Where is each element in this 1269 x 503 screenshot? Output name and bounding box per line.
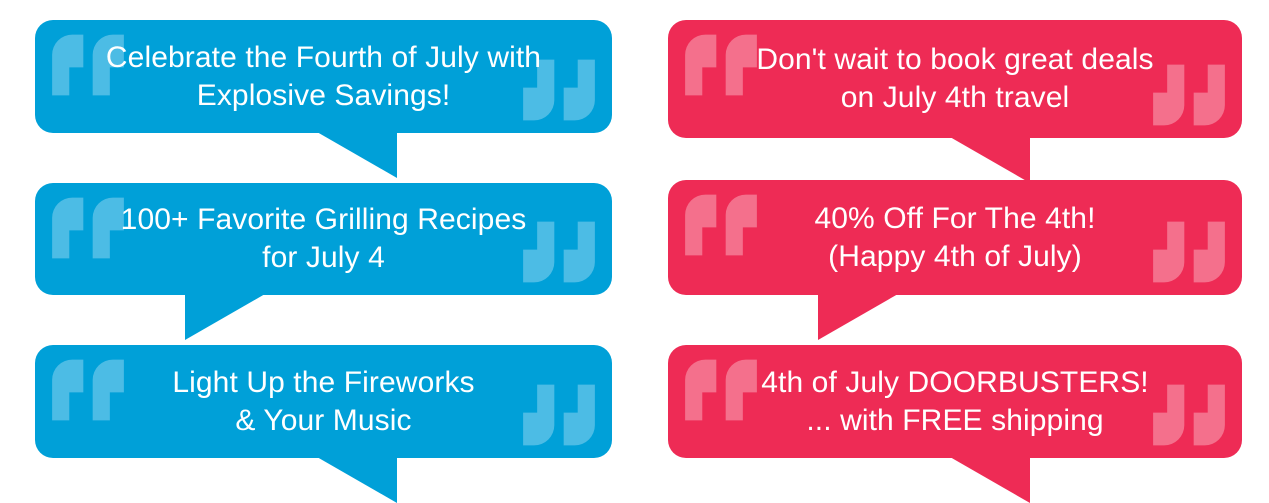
bubble-tail: [317, 457, 397, 503]
bubble-forty-percent-off[interactable]: 40% Off For The 4th! (Happy 4th of July): [668, 180, 1242, 295]
bubble-tail: [818, 294, 898, 340]
bubble-doorbusters[interactable]: 4th of July DOORBUSTERS! ... with FREE s…: [668, 345, 1242, 458]
bubble-text: 4th of July DOORBUSTERS! ... with FREE s…: [668, 363, 1242, 439]
bubble-background: Light Up the Fireworks & Your Music: [35, 345, 612, 458]
bubble-light-up-fireworks[interactable]: Light Up the Fireworks & Your Music: [35, 345, 612, 458]
bubble-tail: [950, 137, 1030, 183]
bubble-text: Celebrate the Fourth of July with Explos…: [35, 38, 612, 114]
bubble-background: Don't wait to book great deals on July 4…: [668, 20, 1242, 138]
bubble-celebrate-fourth[interactable]: Celebrate the Fourth of July with Explos…: [35, 20, 612, 133]
bubble-text: 100+ Favorite Grilling Recipes for July …: [35, 201, 612, 277]
bubble-background: 4th of July DOORBUSTERS! ... with FREE s…: [668, 345, 1242, 458]
bubble-background: 100+ Favorite Grilling Recipes for July …: [35, 183, 612, 295]
bubble-grilling-recipes[interactable]: 100+ Favorite Grilling Recipes for July …: [35, 183, 612, 295]
bubble-tail: [317, 132, 397, 178]
bubble-text: 40% Off For The 4th! (Happy 4th of July): [668, 199, 1242, 275]
bubble-tail: [185, 294, 265, 340]
bubble-book-great-deals[interactable]: Don't wait to book great deals on July 4…: [668, 20, 1242, 138]
bubble-text: Light Up the Fireworks & Your Music: [35, 363, 612, 439]
bubble-background: 40% Off For The 4th! (Happy 4th of July): [668, 180, 1242, 295]
quote-bubble-board: Celebrate the Fourth of July with Explos…: [0, 0, 1269, 503]
bubble-tail: [950, 457, 1030, 503]
bubble-background: Celebrate the Fourth of July with Explos…: [35, 20, 612, 133]
bubble-text: Don't wait to book great deals on July 4…: [668, 41, 1242, 117]
